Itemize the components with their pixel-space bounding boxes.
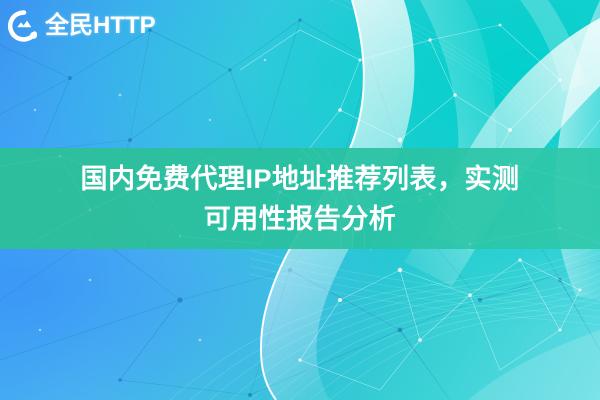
quanmin-http-logo-icon <box>8 10 40 42</box>
brand-logo-text: 全民HTTP <box>45 14 156 38</box>
title-banner-band: 国内免费代理IP地址推荐列表，实测 可用性报告分析 <box>0 148 600 249</box>
banner-title-line-2: 可用性报告分析 <box>204 199 397 239</box>
brand-logo[interactable]: 全民HTTP <box>8 9 156 43</box>
promo-banner: 全民HTTP <box>0 0 600 400</box>
banner-title-line-1: 国内免费代理IP地址推荐列表，实测 <box>80 159 519 199</box>
